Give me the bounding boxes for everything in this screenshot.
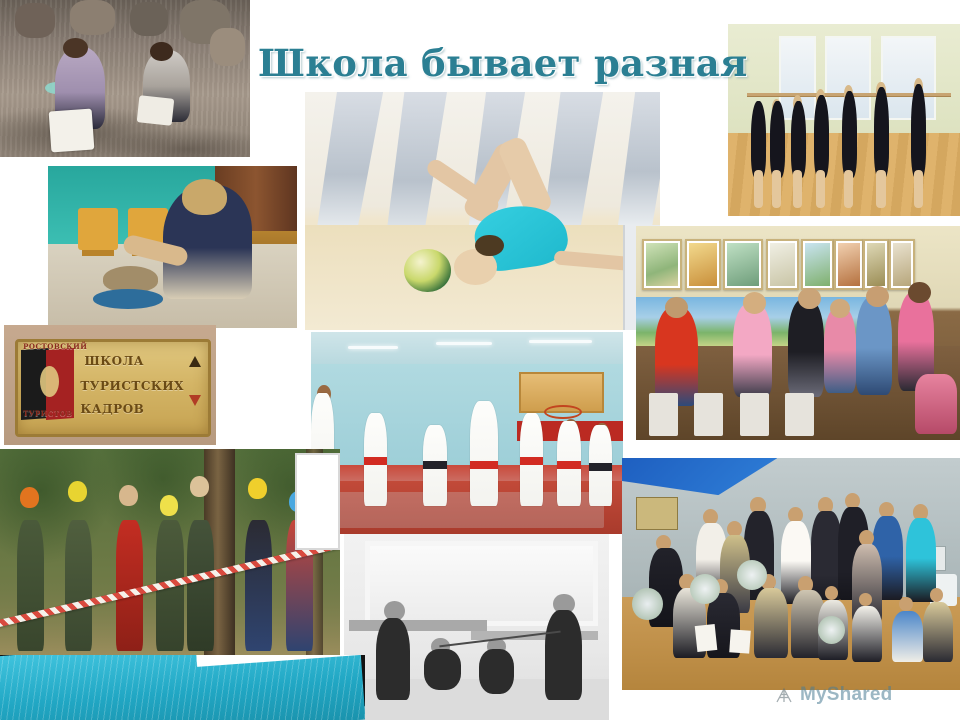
dancer-legs — [844, 170, 853, 208]
photo-pottery-class[interactable] — [46, 164, 299, 330]
ceiling-lamp — [348, 346, 398, 349]
boy-head — [63, 38, 88, 58]
dancer-legs — [876, 170, 885, 208]
background-child — [210, 28, 245, 66]
stage-drape — [596, 92, 660, 225]
ballet-barre-artwork — [728, 24, 960, 216]
ballroom-team-artwork — [622, 458, 960, 690]
stage-drape — [305, 92, 383, 230]
child-head — [798, 288, 821, 309]
background-child — [15, 3, 55, 38]
bw-dance-artwork — [344, 534, 609, 720]
photo-taekwondo-class[interactable] — [311, 332, 623, 534]
dancer-body — [911, 84, 926, 178]
plastic-stool — [694, 393, 723, 436]
girl-standing — [376, 618, 410, 700]
participant — [65, 520, 92, 650]
red-belt — [557, 461, 580, 469]
child-front-row — [892, 611, 922, 662]
sign-line-top: РОСТОВСКИЙ — [23, 342, 87, 351]
sign-line-2: ТУРИСТСКИХ — [80, 379, 184, 393]
framed-artwork — [766, 239, 799, 290]
chair — [78, 208, 118, 250]
bouquet — [818, 616, 845, 644]
red-belt — [470, 461, 498, 469]
pottery-class-artwork — [48, 166, 297, 328]
girl-head — [182, 179, 227, 215]
white-banner — [295, 453, 340, 549]
rope-course-artwork — [0, 449, 340, 659]
tourist-sign-artwork: РОСТОВСКИЙ ТУРИСТОВ ШКОЛА ТУРИСТСКИХ КАД… — [4, 325, 216, 445]
participant — [17, 520, 44, 650]
myshared-watermark: MyShared — [774, 682, 892, 708]
dancer-legs — [772, 170, 781, 208]
bench — [349, 620, 487, 631]
basketball-hoop — [544, 405, 582, 419]
child-head — [908, 282, 931, 303]
child-head — [665, 297, 688, 318]
child-head — [930, 588, 944, 602]
plastic-stool — [785, 393, 814, 436]
sign-line-bottom: ТУРИСТОВ — [23, 409, 73, 418]
child-painter — [655, 307, 697, 405]
photo-rhythmic-gymnastics[interactable] — [305, 92, 660, 330]
notebook-page — [49, 108, 94, 152]
dancer-body — [842, 91, 857, 177]
page-title: Школа бывает разная — [258, 36, 728, 90]
diploma — [729, 629, 751, 654]
framed-artwork — [685, 239, 721, 290]
framed-artwork — [642, 239, 682, 290]
potters-wheel — [93, 289, 163, 308]
myshared-watermark-text: MyShared — [800, 684, 892, 706]
black-belt — [423, 461, 446, 469]
teal-striped-banner — [0, 655, 365, 720]
framed-artwork — [863, 239, 890, 290]
red-jacket-head — [119, 485, 138, 506]
participant-red-jacket — [116, 520, 143, 650]
myshared-logo-icon — [774, 685, 794, 705]
sign-line-1: ШКОЛА — [85, 354, 144, 368]
framed-artwork — [834, 239, 864, 290]
notebook-page — [136, 96, 174, 126]
dancer-legs — [914, 170, 923, 208]
ceiling-lamp — [529, 340, 591, 343]
plastic-stool — [740, 393, 769, 436]
banner-teal-stripes — [0, 655, 365, 720]
girl-stretching — [424, 649, 461, 690]
child-head — [825, 586, 839, 600]
hammer-sickle-emblem — [40, 366, 59, 397]
ceiling-lamp — [436, 342, 492, 345]
taekwondo-artwork — [311, 332, 623, 534]
sign-line-3: КАДРОВ — [80, 402, 144, 416]
photo-bw-dance-practice[interactable] — [344, 534, 609, 720]
outdoor-school-artwork — [0, 0, 250, 157]
photo-rope-course[interactable] — [0, 449, 340, 659]
child-painter — [824, 307, 856, 393]
dancer-body — [874, 87, 889, 177]
child-front-row — [852, 606, 882, 662]
dancer-body — [770, 101, 785, 178]
framed-artwork — [723, 239, 763, 290]
child-painter — [788, 299, 824, 397]
yellow-helmet — [160, 495, 179, 516]
yellow-helmet — [68, 481, 87, 502]
slide-canvas: РОСТОВСКИЙ ТУРИСТОВ ШКОЛА ТУРИСТСКИХ КАД… — [0, 0, 960, 720]
yellow-helmet — [248, 478, 267, 499]
child-painter — [856, 297, 892, 395]
photo-tourist-school-sign[interactable]: РОСТОВСКИЙ ТУРИСТОВ ШКОЛА ТУРИСТСКИХ КАД… — [4, 325, 216, 445]
diploma — [695, 624, 718, 651]
art-class-artwork — [636, 226, 960, 440]
participant — [245, 520, 272, 650]
participant — [187, 520, 214, 650]
studio-window — [881, 36, 936, 121]
child-head — [743, 292, 766, 313]
plastic-stool — [649, 393, 678, 436]
wall-plaque — [636, 497, 679, 529]
pram — [915, 374, 957, 434]
dancer-body — [791, 101, 806, 178]
dancer-legs — [816, 170, 825, 208]
triangle-up-icon — [189, 356, 201, 367]
background-child — [130, 2, 168, 37]
child-painter — [733, 303, 772, 397]
orange-helmet — [20, 487, 39, 508]
student-uniform — [470, 401, 498, 506]
child-front-row — [923, 602, 953, 662]
dancer-body — [814, 95, 829, 178]
photo-ballroom-team[interactable] — [622, 458, 960, 690]
black-belt — [589, 463, 612, 471]
bouquet — [690, 574, 720, 604]
red-belt — [520, 457, 543, 465]
background-child — [70, 0, 115, 35]
triangle-down-icon — [189, 395, 201, 406]
dancer-front-row — [754, 588, 788, 658]
red-belt — [364, 457, 387, 465]
child-head — [899, 597, 913, 611]
second-boy-head — [150, 42, 173, 61]
girl-stretching — [479, 649, 513, 694]
child-head — [866, 286, 889, 307]
framed-artwork — [889, 239, 916, 290]
gymnastics-ball — [404, 249, 450, 292]
participant-head — [190, 476, 209, 497]
dancer-body — [751, 101, 766, 178]
bouquet — [632, 588, 662, 620]
photo-outdoor-school[interactable] — [0, 0, 250, 157]
dancer-back-row — [811, 511, 841, 599]
dancer-legs — [754, 170, 763, 208]
rhythmic-gymnastics-artwork — [305, 92, 660, 330]
gymnast-hair-bun — [475, 235, 503, 256]
photo-art-class[interactable] — [636, 226, 960, 440]
framed-artwork — [801, 239, 834, 290]
child-head — [830, 299, 849, 318]
dancer-legs — [793, 170, 802, 208]
girl-with-rope — [545, 610, 582, 699]
photo-ballet-barre[interactable] — [728, 24, 960, 216]
